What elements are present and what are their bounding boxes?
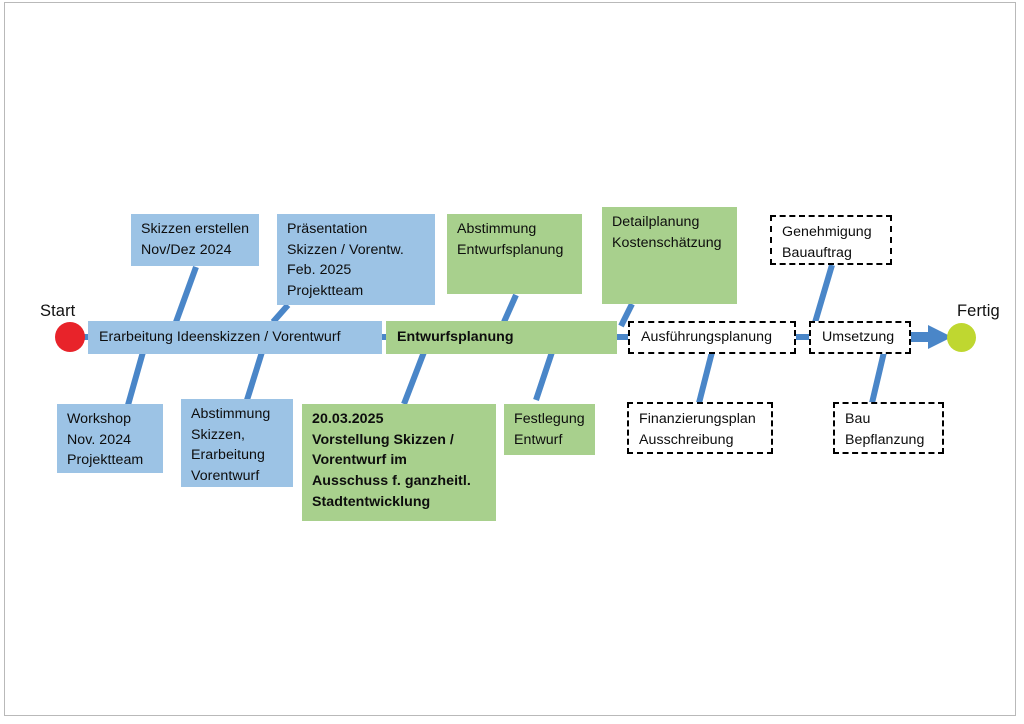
connector-abstimmung-skizzen <box>247 352 262 400</box>
note-festlegung-entwurf[interactable]: Festlegung Entwurf <box>504 404 595 455</box>
connector-praesentation <box>273 305 288 322</box>
note-bau-bepflanzung[interactable]: Bau Bepflanzung <box>833 402 944 454</box>
connector-finanzierungsplan <box>699 352 712 403</box>
timeline-bar-entwurfsplanung[interactable]: Entwurfsplanung <box>386 321 617 354</box>
note-finanzierungsplan[interactable]: Finanzierungsplan Ausschreibung <box>627 402 773 454</box>
timeline-bar-entwurfsplanung-label: Entwurfsplanung <box>397 330 514 344</box>
timeline-bar-erarbeitung-label: Erarbeitung Ideenskizzen / Vorentwurf <box>99 330 341 344</box>
note-abstimmung-skizzen[interactable]: Abstimmung Skizzen, Erarbeitung Vorentwu… <box>181 399 293 487</box>
connector-bau-bepflanzung <box>872 352 884 403</box>
note-genehmigung-bauauftrag[interactable]: Genehmigung Bauauftrag <box>770 215 892 265</box>
connector-layer <box>0 0 1024 724</box>
end-dot <box>947 323 976 352</box>
start-label: Start <box>40 303 75 320</box>
connector-workshop <box>128 352 143 405</box>
connector-skizzen-erstellen <box>176 267 196 322</box>
diagram-page: Start Fertig Erarbeitung Ideenskizzen / … <box>0 0 1024 724</box>
note-vorstellung-ausschuss[interactable]: 20.03.2025 Vorstellung Skizzen / Vorentw… <box>302 404 496 521</box>
timeline-bar-umsetzung[interactable]: Umsetzung <box>809 321 911 354</box>
timeline-bar-ausfuehrungsplanung-label: Ausführungsplanung <box>641 330 772 344</box>
note-praesentation-skizzen[interactable]: Präsentation Skizzen / Vorentw. Feb. 202… <box>277 214 435 305</box>
start-dot <box>55 322 85 352</box>
connector-vorstellung-ausschuss <box>404 352 424 404</box>
connector-festlegung-entwurf <box>536 352 552 400</box>
note-detailplanung-kostenschaetzung[interactable]: Detailplanung Kostenschätzung <box>602 207 737 304</box>
note-skizzen-erstellen[interactable]: Skizzen erstellen Nov/Dez 2024 <box>131 214 259 266</box>
arrow-to-fertig <box>906 325 952 349</box>
timeline-bar-umsetzung-label: Umsetzung <box>822 330 894 344</box>
connector-genehmigung <box>814 265 832 326</box>
timeline-bar-erarbeitung[interactable]: Erarbeitung Ideenskizzen / Vorentwurf <box>88 321 382 354</box>
end-label: Fertig <box>957 303 1000 320</box>
connector-abstimmung-entwurfsplanung <box>504 295 516 322</box>
note-workshop[interactable]: Workshop Nov. 2024 Projektteam <box>57 404 163 473</box>
note-abstimmung-entwurfsplanung[interactable]: Abstimmung Entwurfsplanung <box>447 214 582 294</box>
timeline-bar-ausfuehrungsplanung[interactable]: Ausführungsplanung <box>628 321 796 354</box>
